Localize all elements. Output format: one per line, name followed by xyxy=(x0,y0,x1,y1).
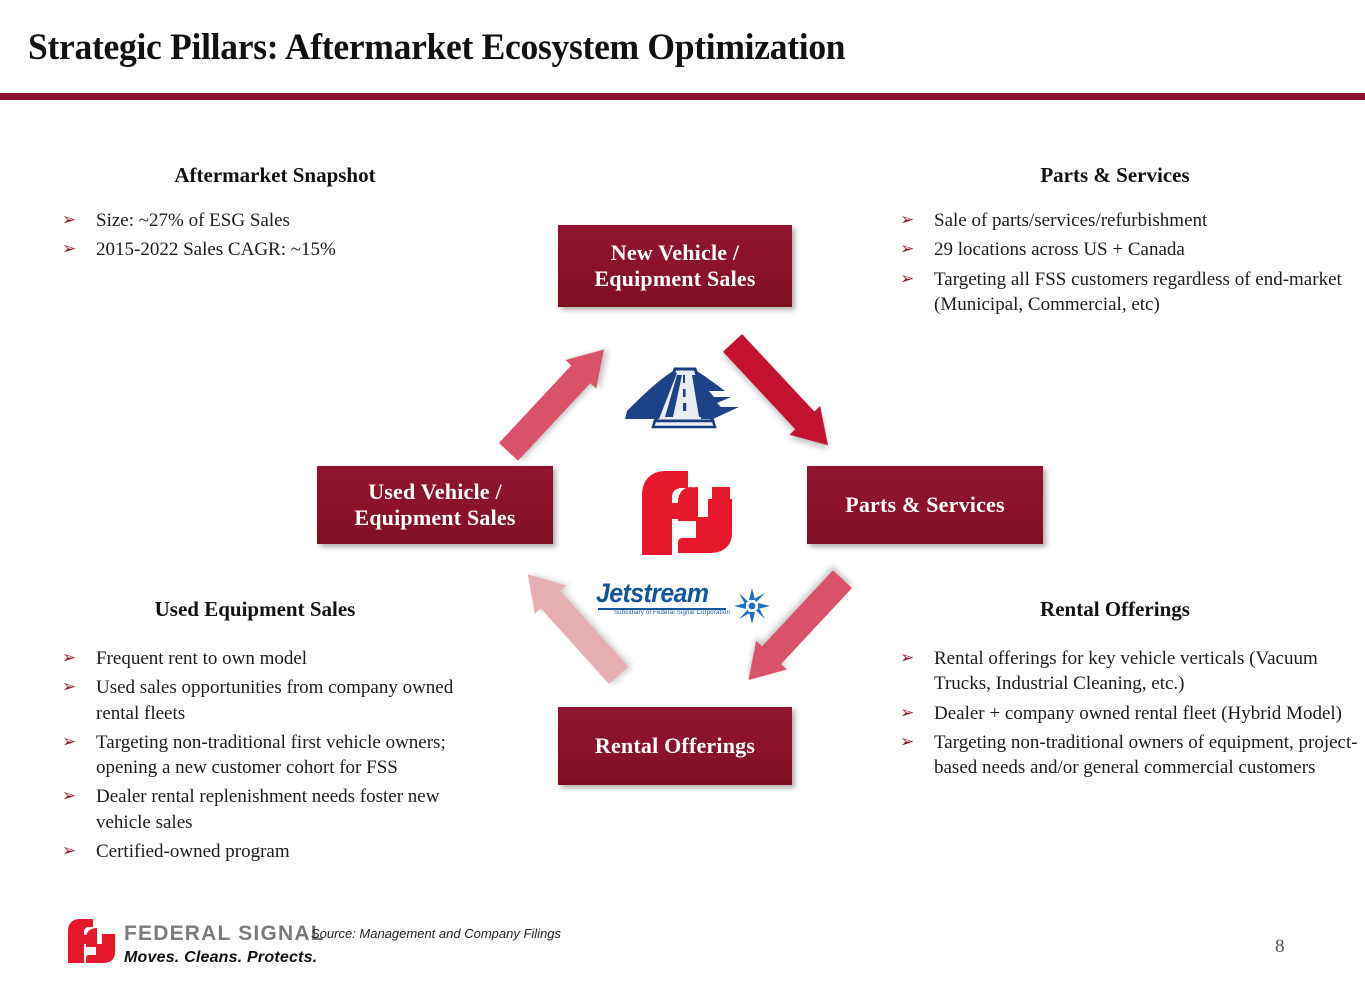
list-item: ➢ Used sales opportunities from company … xyxy=(62,675,482,726)
list-item: ➢ Targeting non-traditional first vehicl… xyxy=(62,730,482,781)
bullet-arrow-icon: ➢ xyxy=(62,839,96,864)
diagram-box-rental-offerings[interactable]: Rental Offerings xyxy=(558,707,792,785)
diagram-box-line2: Equipment Sales xyxy=(354,505,515,531)
page-number: 8 xyxy=(1275,936,1285,958)
list-item: ➢ Targeting non-traditional owners of eq… xyxy=(900,730,1360,781)
page-title: Strategic Pillars: Aftermarket Ecosystem… xyxy=(28,26,845,69)
bullet-arrow-icon: ➢ xyxy=(900,701,934,726)
list-item: ➢ 29 locations across US + Canada xyxy=(900,237,1350,262)
bullet-arrow-icon: ➢ xyxy=(62,237,96,262)
list-item: ➢ Size: ~27% of ESG Sales xyxy=(62,208,502,233)
list-item: ➢ Frequent rent to own model xyxy=(62,646,482,671)
elgin-sweeper-logo xyxy=(613,363,745,441)
list-item-text: Targeting all FSS customers regardless o… xyxy=(934,267,1350,318)
list-item-text: Targeting non-traditional first vehicle … xyxy=(96,730,482,781)
section-heading-rental-offerings: Rental Offerings xyxy=(880,597,1350,622)
list-item-text: Targeting non-traditional owners of equi… xyxy=(934,730,1360,781)
bullet-arrow-icon: ➢ xyxy=(900,208,934,233)
list-item: ➢ Dealer + company owned rental fleet (H… xyxy=(900,701,1360,726)
list-item: ➢ 2015-2022 Sales CAGR: ~15% xyxy=(62,237,502,262)
arrow-shaft xyxy=(761,570,852,665)
bullet-arrow-icon: ➢ xyxy=(62,208,96,233)
list-item-text: Used sales opportunities from company ow… xyxy=(96,675,482,726)
bullet-list-parts-services: ➢ Sale of parts/services/refurbishment ➢… xyxy=(900,208,1350,321)
list-item-text: Frequent rent to own model xyxy=(96,646,482,671)
bullet-arrow-icon: ➢ xyxy=(62,730,96,755)
list-item-text: Certified-owned program xyxy=(96,839,482,864)
bullet-arrow-icon: ➢ xyxy=(62,784,96,809)
list-item-text: Size: ~27% of ESG Sales xyxy=(96,208,502,233)
federal-signal-fs-logo xyxy=(636,467,738,559)
bullet-arrow-icon: ➢ xyxy=(62,675,96,700)
source-note: Source: Management and Company Filings xyxy=(311,926,561,941)
federal-signal-tagline: Moves. Cleans. Protects. xyxy=(124,949,317,967)
title-divider xyxy=(0,93,1365,100)
section-heading-parts-services: Parts & Services xyxy=(880,163,1350,188)
list-item-text: Dealer + company owned rental fleet (Hyb… xyxy=(934,701,1360,726)
jetstream-starburst-icon xyxy=(732,586,772,626)
bullet-arrow-icon: ➢ xyxy=(900,730,934,755)
slide-canvas: Strategic Pillars: Aftermarket Ecosystem… xyxy=(0,0,1365,993)
bullet-list-used-equipment-sales: ➢ Frequent rent to own model ➢ Used sale… xyxy=(62,646,482,868)
federal-signal-wordmark: FEDERAL SIGNAL xyxy=(124,922,325,946)
list-item: ➢ Certified-owned program xyxy=(62,839,482,864)
section-heading-aftermarket-snapshot: Aftermarket Snapshot xyxy=(40,163,510,188)
diagram-box-line1: New Vehicle / xyxy=(594,240,755,266)
list-item-text: 29 locations across US + Canada xyxy=(934,237,1350,262)
list-item-text: Rental offerings for key vehicle vertica… xyxy=(934,646,1360,697)
section-heading-used-equipment-sales: Used Equipment Sales xyxy=(40,597,470,622)
list-item-text: 2015-2022 Sales CAGR: ~15% xyxy=(96,237,502,262)
arrow-shaft xyxy=(499,364,592,461)
diagram-box-line2: Equipment Sales xyxy=(594,266,755,292)
list-item: ➢ Targeting all FSS customers regardless… xyxy=(900,267,1350,318)
list-item-text: Dealer rental replenishment needs foster… xyxy=(96,784,482,835)
bullet-arrow-icon: ➢ xyxy=(900,646,934,671)
bullet-list-rental-offerings: ➢ Rental offerings for key vehicle verti… xyxy=(900,646,1360,784)
bullet-arrow-icon: ➢ xyxy=(62,646,96,671)
bullet-list-aftermarket-snapshot: ➢ Size: ~27% of ESG Sales ➢ 2015-2022 Sa… xyxy=(62,208,502,267)
diagram-box-parts-services[interactable]: Parts & Services xyxy=(807,466,1043,544)
list-item: ➢ Sale of parts/services/refurbishment xyxy=(900,208,1350,233)
list-item-text: Sale of parts/services/refurbishment xyxy=(934,208,1350,233)
jetstream-logo: Jetstream Subsidiary of Federal Signal C… xyxy=(596,578,772,628)
jetstream-wordmark: Jetstream xyxy=(596,578,708,609)
jetstream-subtitle: Subsidiary of Federal Signal Corporation xyxy=(610,610,734,616)
bullet-arrow-icon: ➢ xyxy=(900,267,934,292)
list-item: ➢ Dealer rental replenishment needs fost… xyxy=(62,784,482,835)
diagram-box-new-vehicle-equipment-sales[interactable]: New Vehicle / Equipment Sales xyxy=(558,225,792,307)
diagram-box-used-vehicle-equipment-sales[interactable]: Used Vehicle / Equipment Sales xyxy=(317,466,553,544)
federal-signal-footer-logo xyxy=(66,917,118,965)
diagram-box-line1: Used Vehicle / xyxy=(354,479,515,505)
bullet-arrow-icon: ➢ xyxy=(900,237,934,262)
list-item: ➢ Rental offerings for key vehicle verti… xyxy=(900,646,1360,697)
